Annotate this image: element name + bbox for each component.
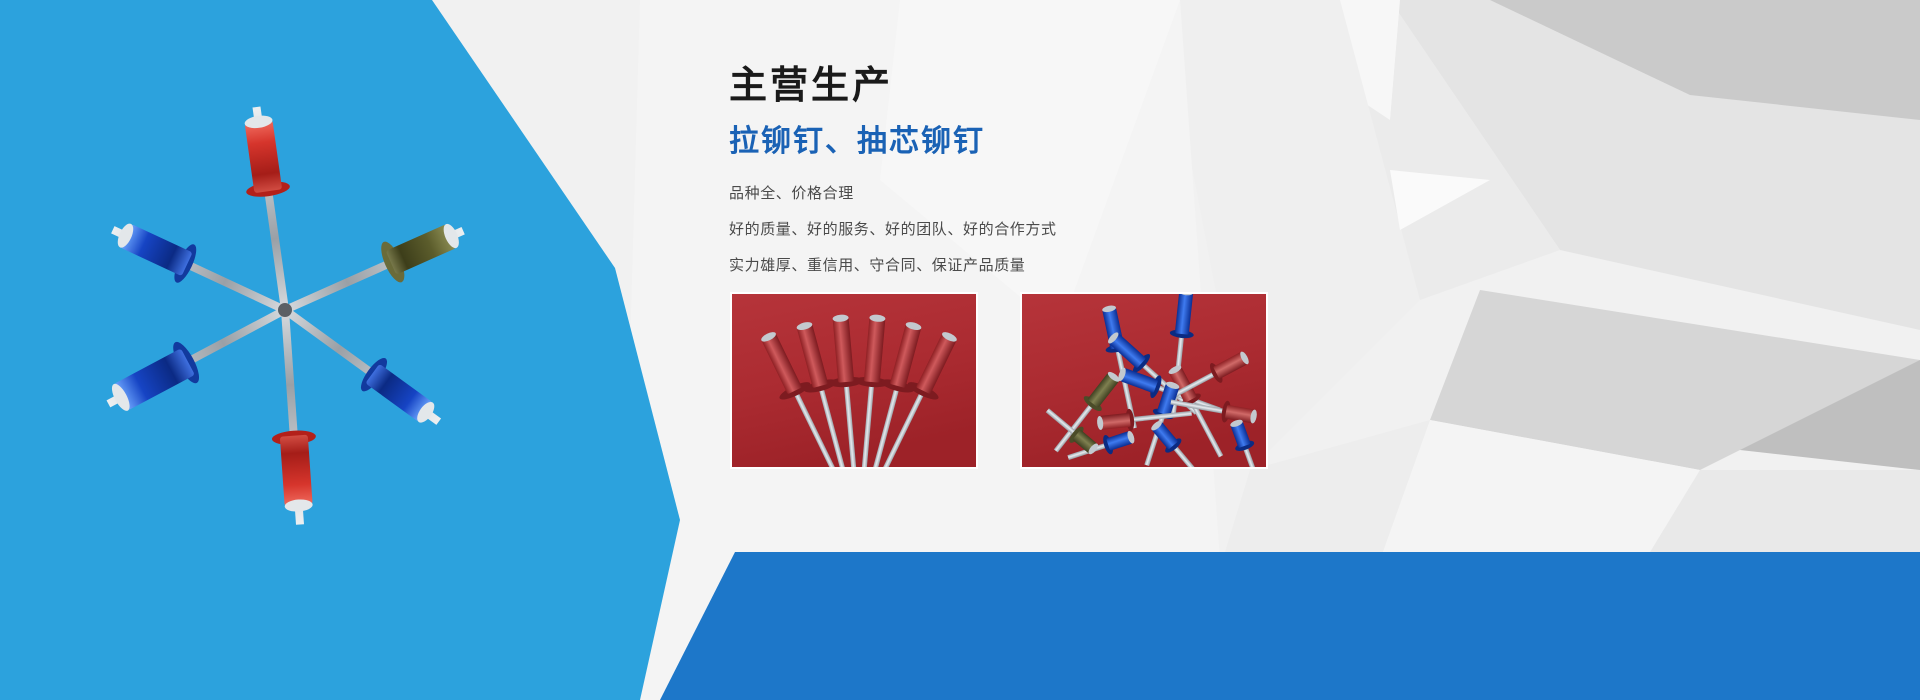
red-rivets-illustration: [732, 294, 976, 467]
product-photo-red-rivets[interactable]: [731, 293, 977, 468]
description-list: 品种全、价格合理 好的质量、好的服务、好的团队、好的合作方式 实力雄厚、重信用、…: [729, 176, 1409, 284]
product-photo-mixed-rivets[interactable]: [1021, 293, 1267, 468]
banner-content: 主营生产 拉铆钉、抽芯铆钉 品种全、价格合理 好的质量、好的服务、好的团队、好的…: [729, 0, 1429, 700]
rivet-star-illustration: [60, 60, 510, 560]
description-line-1: 品种全、价格合理: [729, 176, 1409, 212]
promo-banner: 主营生产 拉铆钉、抽芯铆钉 品种全、价格合理 好的质量、好的服务、好的团队、好的…: [0, 0, 1920, 700]
page-subtitle: 拉铆钉、抽芯铆钉: [729, 125, 985, 158]
product-thumbnail-list: [731, 293, 1267, 468]
rivet-star-photo: [60, 60, 510, 560]
description-line-3: 实力雄厚、重信用、守合同、保证产品质量: [729, 248, 1409, 284]
page-title: 主营生产: [729, 66, 893, 108]
description-line-2: 好的质量、好的服务、好的团队、好的合作方式: [729, 212, 1409, 248]
mixed-rivets-illustration: [1022, 294, 1266, 467]
